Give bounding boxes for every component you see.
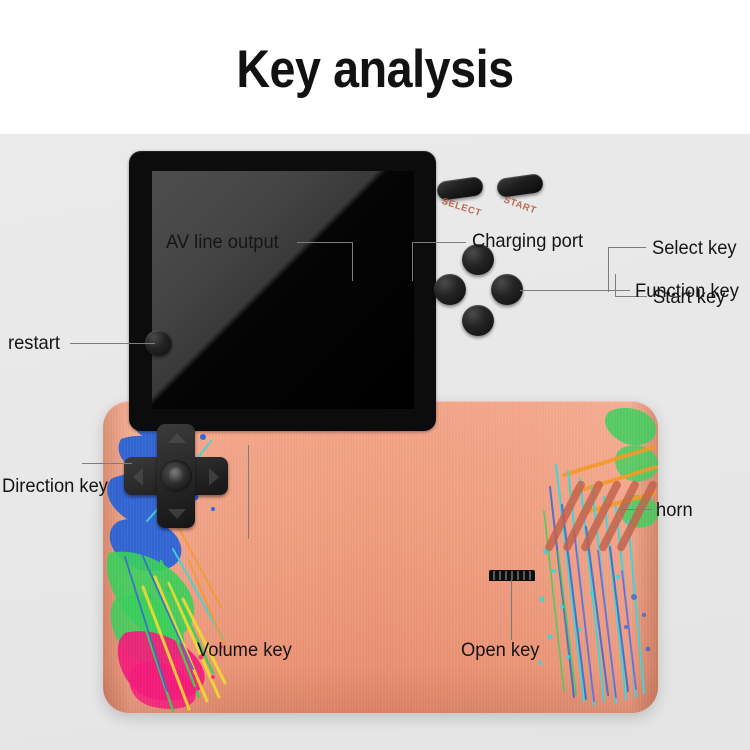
- paint-splatter-right: [528, 401, 658, 713]
- annotation-horn: horn: [656, 499, 693, 522]
- leader-restart: [70, 343, 155, 344]
- function-button-right[interactable]: [491, 274, 523, 305]
- leader-volume-key: [248, 445, 249, 539]
- leader-charging-port-drop: [412, 242, 413, 281]
- display-screen-bezel: [129, 151, 436, 431]
- leader-select-key: [608, 247, 646, 248]
- product-photo-stage: SELECT START: [0, 134, 750, 750]
- header-band: Key analysis: [0, 0, 750, 134]
- annotation-open-key: Open key: [461, 639, 539, 662]
- start-button[interactable]: [496, 173, 544, 198]
- dpad-up-arrow-icon[interactable]: [168, 433, 186, 443]
- leader-select-key-drop: [608, 247, 609, 292]
- annotation-select-key: Select key: [652, 237, 737, 260]
- annotation-restart: restart: [8, 332, 60, 355]
- leader-function-key: [520, 290, 630, 291]
- leader-start-key-drop: [615, 274, 616, 296]
- dpad-down-arrow-icon[interactable]: [168, 509, 186, 519]
- dpad-right-arrow-icon[interactable]: [209, 468, 219, 486]
- page-title: Key analysis: [45, 40, 705, 100]
- leader-open-key: [511, 580, 512, 640]
- annotation-charging-port: Charging port: [472, 230, 583, 253]
- direction-pad[interactable]: [124, 424, 228, 528]
- function-button-bottom[interactable]: [462, 305, 494, 336]
- annotation-av-line-output: AV line output: [166, 231, 279, 254]
- speaker-horn: [557, 481, 652, 553]
- select-button-caption: SELECT: [440, 196, 482, 219]
- leader-av-line-output-drop: [352, 242, 353, 281]
- annotation-function-key: Function key: [635, 280, 739, 303]
- display-screen: [152, 171, 414, 409]
- leader-av-line-output: [297, 242, 353, 243]
- leader-charging-port: [412, 242, 466, 243]
- leader-direction-key: [82, 463, 132, 464]
- annotation-volume-key: Volume key: [197, 639, 292, 662]
- dpad-center-hub[interactable]: [160, 460, 192, 492]
- annotation-direction-key: Direction key: [2, 475, 108, 498]
- dpad-left-arrow-icon[interactable]: [133, 468, 143, 486]
- start-button-caption: START: [502, 195, 538, 217]
- function-button-left[interactable]: [434, 274, 466, 305]
- leader-horn: [620, 509, 652, 510]
- screenshot-root: Key analysis: [0, 0, 750, 750]
